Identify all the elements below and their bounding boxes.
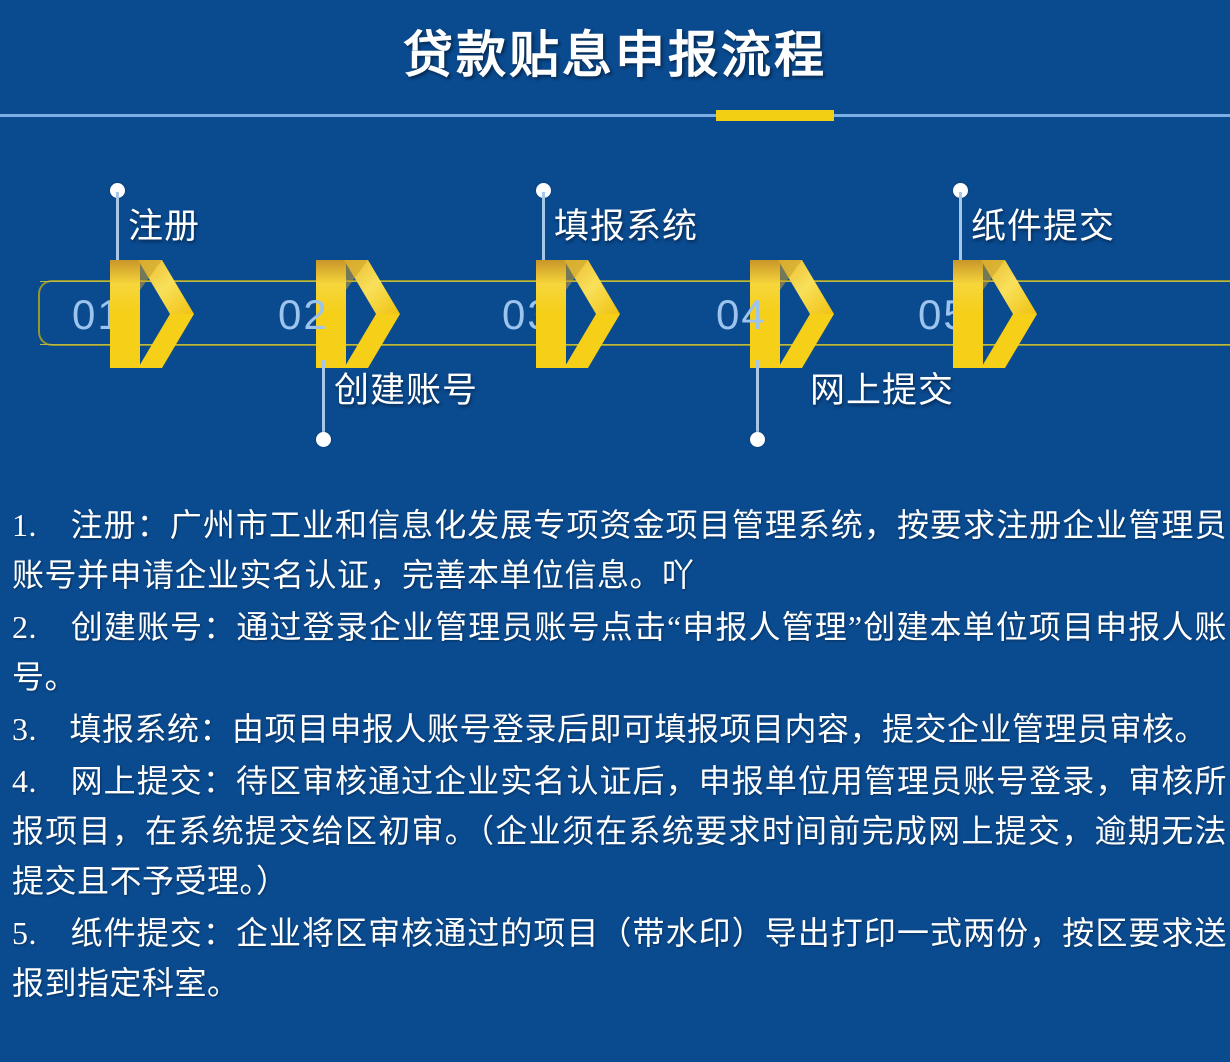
connector-line-04 [756,360,759,436]
connector-dot-04 [750,432,765,447]
step-number-04: 04 [716,292,767,338]
page-title: 贷款贴息申报流程 [0,24,1230,86]
header-divider-line [0,114,1230,117]
slide-header: 贷款贴息申报流程 [0,0,1230,116]
list-item: 3. 填报系统：由项目申报人账号登录后即可填报项目内容，提交企业管理员审核。 [12,704,1227,754]
list-item: 4. 网上提交：待区审核通过企业实名认证后，申报单位用管理员账号登录，审核所报项… [12,756,1227,906]
list-item: 2. 创建账号：通过登录企业管理员账号点击“申报人管理”创建本单位项目申报人账号… [12,602,1227,702]
step-number-02: 02 [278,292,329,338]
header-divider-accent [716,110,834,121]
step-label-04: 网上提交 [810,370,954,412]
process-timeline: 注册 01 [0,180,1230,470]
connector-line-05 [959,192,962,266]
list-item: 5. 纸件提交：企业将区审核通过的项目（带水印）导出打印一式两份，按区要求送报到… [12,908,1227,1008]
process-description-list: 1. 注册：广州市工业和信息化发展专项资金项目管理系统，按要求注册企业管理员账号… [12,500,1227,1010]
connector-line-01 [116,192,119,266]
timeline-track-inner-line [40,281,1230,345]
step-label-03: 填报系统 [554,206,698,248]
connector-line-02 [322,360,325,436]
chevron-arrow-03 [536,260,620,368]
list-item: 1. 注册：广州市工业和信息化发展专项资金项目管理系统，按要求注册企业管理员账号… [12,500,1227,600]
step-label-02: 创建账号 [334,370,478,412]
connector-line-03 [542,192,545,266]
connector-dot-02 [316,432,331,447]
step-label-05: 纸件提交 [971,206,1115,248]
step-label-01: 注册 [128,206,200,248]
chevron-arrow-05 [953,260,1037,368]
chevron-arrow-01 [110,260,194,368]
